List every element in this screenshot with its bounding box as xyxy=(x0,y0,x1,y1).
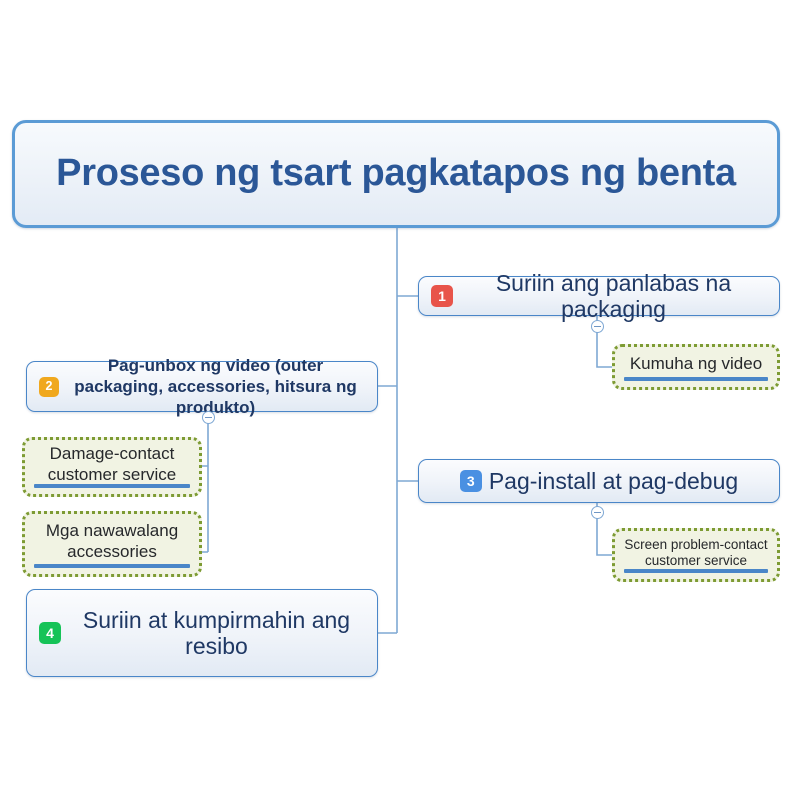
collapse-toggle-1[interactable] xyxy=(591,320,604,333)
branch-node-2[interactable]: 2 Pag-unbox ng video (outer packaging, a… xyxy=(26,361,378,412)
collapse-toggle-3[interactable] xyxy=(591,506,604,519)
branch-label-3: Pag-install at pag-debug xyxy=(489,468,738,494)
leaf-label: Screen problem-contact customer service xyxy=(624,537,768,569)
leaf-underline xyxy=(34,564,190,568)
leaf-underline xyxy=(34,484,190,488)
branch-node-1[interactable]: 1 Suriin ang panlabas na packaging xyxy=(418,276,780,316)
collapse-toggle-2[interactable] xyxy=(202,411,215,424)
leaf-label: Damage-contact customer service xyxy=(34,444,190,484)
branch-badge-1: 1 xyxy=(431,285,453,307)
leaf-label: Kumuha ng video xyxy=(630,354,762,374)
branch-node-4[interactable]: 4 Suriin at kumpirmahin ang resibo xyxy=(26,589,378,677)
leaf-node-kumuha-ng-video[interactable]: Kumuha ng video xyxy=(612,344,780,390)
branch-badge-2: 2 xyxy=(39,377,59,397)
leaf-node-screen-problem-contact-customer-service[interactable]: Screen problem-contact customer service xyxy=(612,528,780,582)
leaf-underline xyxy=(624,569,768,573)
leaf-label: Mga nawawalang accessories xyxy=(34,521,190,561)
leaf-node-damage-contact-customer-service[interactable]: Damage-contact customer service xyxy=(22,437,202,497)
branch-label-1: Suriin ang panlabas na packaging xyxy=(460,270,767,322)
branch-node-3[interactable]: 3 Pag-install at pag-debug xyxy=(418,459,780,503)
branch-badge-3: 3 xyxy=(460,470,482,492)
root-title: Proseso ng tsart pagkatapos ng benta xyxy=(42,153,750,195)
branch-badge-4: 4 xyxy=(39,622,61,644)
branch-label-2: Pag-unbox ng video (outer packaging, acc… xyxy=(66,355,365,419)
leaf-node-mga-nawawalang-accessories[interactable]: Mga nawawalang accessories xyxy=(22,511,202,577)
mindmap-canvas: Proseso ng tsart pagkatapos ng benta 1 S… xyxy=(0,0,800,800)
leaf-underline xyxy=(624,377,768,381)
root-node[interactable]: Proseso ng tsart pagkatapos ng benta xyxy=(12,120,780,228)
branch-label-4: Suriin at kumpirmahin ang resibo xyxy=(68,607,365,659)
